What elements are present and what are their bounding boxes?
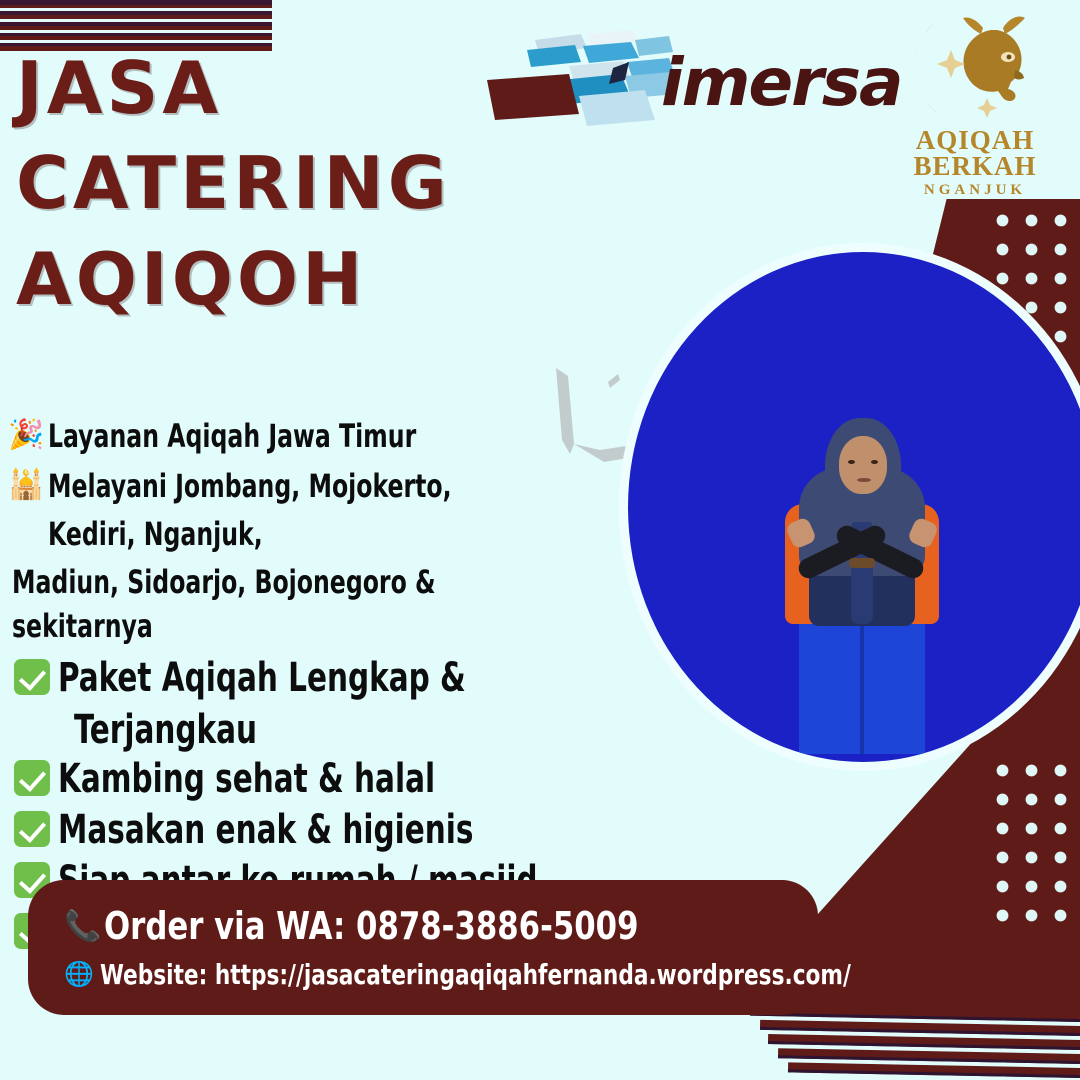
check-mark-icon: [14, 760, 50, 796]
check-mark-icon: [14, 811, 50, 847]
phone-icon: 📞: [62, 909, 104, 944]
list-item: Masakan enak & higienis: [8, 806, 648, 855]
headline-line-3: AQIQOH: [16, 243, 636, 316]
poster-canvas: imersa AQIQAH BERKAH NGANJUK JASA CATER: [0, 0, 1080, 1080]
headline-line-1: JASA: [16, 52, 636, 125]
imersa-wordmark: imersa: [661, 44, 902, 121]
person-illustration: [763, 412, 963, 752]
headline-line-2: CATERING: [16, 147, 636, 220]
feature-text-continuation: Terjangkau: [74, 705, 545, 755]
berkah-line3: NGANJUK: [884, 183, 1066, 197]
berkah-line2: BERKAH: [884, 154, 1066, 180]
feature-text: Kambing sehat & halal: [58, 755, 435, 804]
goat-crescent-moon-icon: [895, 6, 1055, 128]
customer-photo-circle: [628, 252, 1080, 762]
website-contact-row[interactable]: 🌐 Website: https://jasacateringaqiqahfer…: [58, 958, 818, 991]
feature-text-continuation: Madiun, Sidoarjo, Bojonegoro & sekitarny…: [12, 560, 534, 648]
website-label: Website: https://jasacateringaqiqahferna…: [100, 958, 851, 991]
mosque-emoji: 🕌: [8, 462, 48, 508]
whatsapp-contact-row[interactable]: 📞 Order via WA: 0878-3886-5009: [62, 904, 818, 948]
check-mark-icon: [14, 659, 50, 695]
contact-bar: 📞 Order via WA: 0878-3886-5009 🌐 Website…: [28, 880, 818, 1015]
whatsapp-label: Order via WA: 0878-3886-5009: [104, 904, 639, 948]
feature-text: Masakan enak & higienis: [58, 806, 473, 855]
list-item: 🎉 Layanan Aqiqah Jawa Timur: [8, 412, 648, 460]
feature-text: Melayani Jombang, Mojokerto, Kediri, Nga…: [48, 462, 540, 558]
list-item: Kambing sehat & halal: [8, 755, 648, 804]
aqiqah-berkah-logo: AQIQAH BERKAH NGANJUK: [884, 6, 1066, 198]
feature-text: Paket Aqiqah Lengkap &: [58, 654, 466, 703]
list-item: Paket Aqiqah Lengkap &: [8, 654, 648, 703]
globe-icon: 🌐: [58, 960, 100, 989]
list-item: 🕌 Melayani Jombang, Mojokerto, Kediri, N…: [8, 462, 648, 558]
feature-text: Layanan Aqiqah Jawa Timur: [48, 412, 416, 460]
headline-block: JASA CATERING AQIQOH: [16, 52, 636, 338]
party-popper-emoji: 🎉: [8, 412, 48, 458]
decor-stripes-top-left: [0, 0, 272, 48]
